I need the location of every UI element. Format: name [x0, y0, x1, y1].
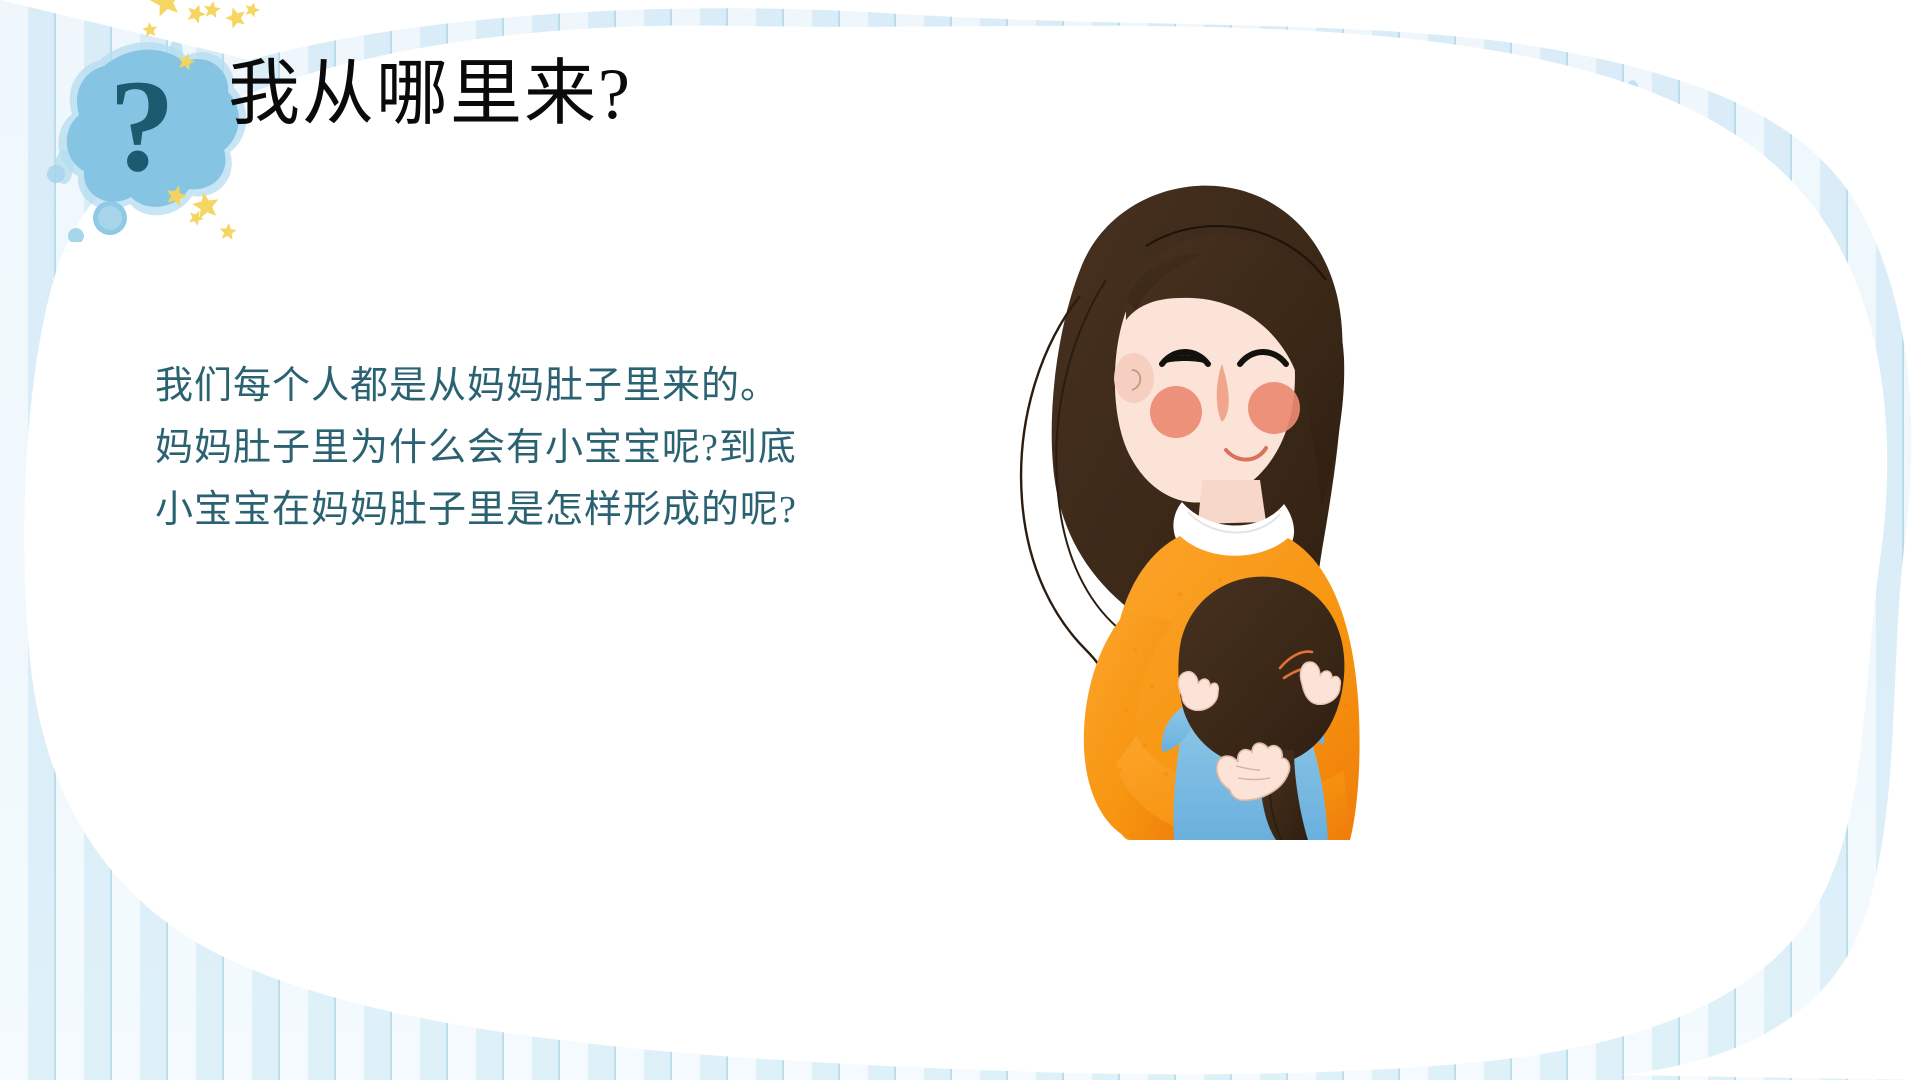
body-paragraph: 我们每个人都是从妈妈肚子里来的。 妈妈肚子里为什么会有小宝宝呢?到底 小宝宝在妈…: [155, 355, 875, 541]
star-icon: [204, 1, 221, 18]
star-icon: [150, 0, 180, 17]
body-line-2: 妈妈肚子里为什么会有小宝宝呢?到底: [155, 417, 875, 479]
star-icon: [246, 2, 260, 17]
star-icon: [188, 5, 206, 24]
body-line-3: 小宝宝在妈妈肚子里是怎样形成的呢?: [155, 479, 875, 541]
star-icon: [142, 22, 157, 37]
star-icon: [225, 8, 245, 29]
body-line-1: 我们每个人都是从妈妈肚子里来的。: [155, 355, 875, 417]
star-icon: [178, 53, 195, 70]
slide-canvas: ? 我从哪里来? 我们每个人都是从妈妈肚子里来的。 妈妈肚子里为什么会有小宝宝呢…: [0, 0, 1920, 1080]
mother-and-child-illustration: [930, 150, 1380, 830]
star-icon: [220, 223, 237, 240]
page-title: 我从哪里来?: [228, 58, 632, 130]
star-icon: [167, 185, 187, 206]
